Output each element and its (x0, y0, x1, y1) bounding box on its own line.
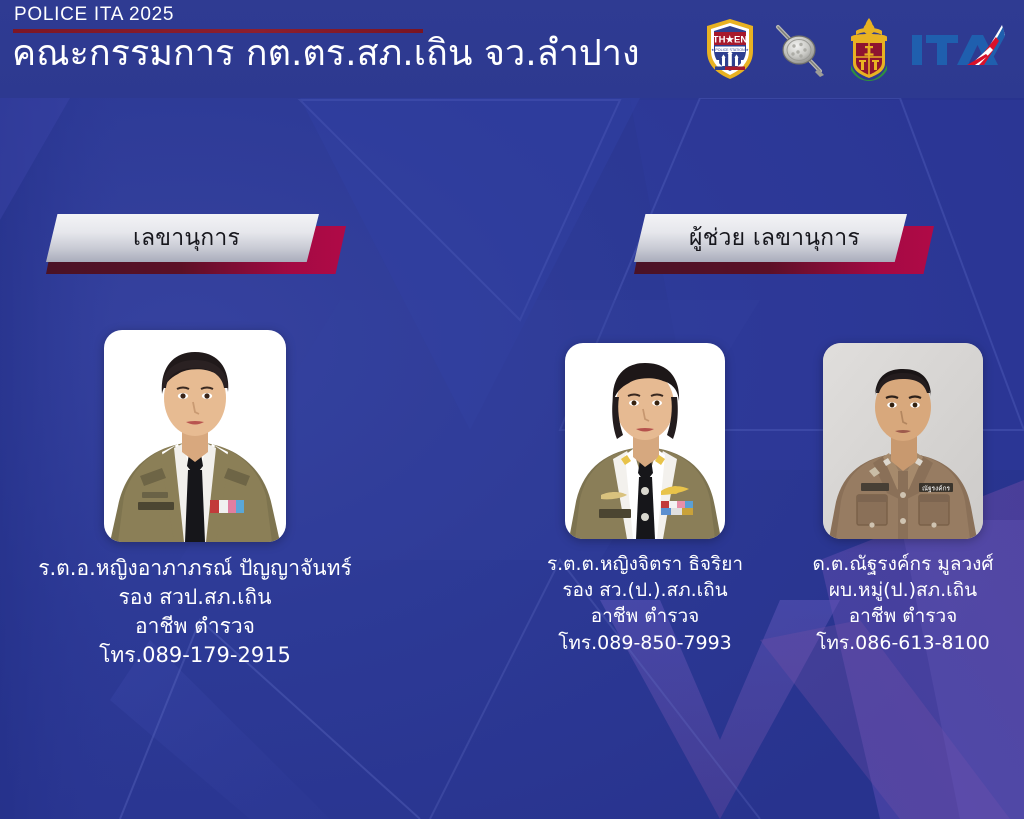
silver-shield-emblem-icon (770, 19, 828, 79)
caption-assistant-1: ร.ต.ต.หญิงจิตรา ธิจริยา รอง สว.(ป.).สภ.เ… (500, 551, 790, 656)
caption-assistant-2: ด.ต.ณัฐรงค์กร มูลวงศ์ ผบ.หมู่(ป.)สภ.เถิน… (758, 551, 1024, 656)
person-card-assistant-2: ณัฐรงค์กร ด.ต.ณัฐรงค์กร มูลวงศ์ ผบ.หมู่(… (758, 343, 1024, 656)
person-position: รอง สว.(ป.).สภ.เถิน (500, 577, 790, 603)
header-kicker: POLICE ITA 2025 (14, 4, 174, 26)
section-banner-assistant-secretary: ผู้ช่วย เลขานุการ (634, 214, 934, 274)
person-position: ผบ.หมู่(ป.)สภ.เถิน (758, 577, 1024, 603)
section-banner-secretary: เลขานุการ (46, 214, 346, 274)
portrait-photo-secretary (104, 330, 286, 542)
header-logo-group: TH★EN ★ POLICE STATION ★ (704, 16, 1008, 82)
thoen-police-station-badge-icon: TH★EN ★ POLICE STATION ★ (704, 18, 756, 80)
person-phone: โทร.089-850-7993 (500, 630, 790, 656)
banner-plate: เลขานุการ (46, 214, 319, 262)
ita-logo-icon (910, 23, 1008, 75)
svg-text:ณัฐรงค์กร: ณัฐรงค์กร (922, 484, 951, 492)
portrait-photo-assistant-2: ณัฐรงค์กร (823, 343, 983, 539)
caption-secretary: ร.ต.อ.หญิงอาภาภรณ์ ปัญญาจันทร์ รอง สวป.ส… (0, 554, 390, 670)
person-occupation: อาชีพ ตำรวจ (0, 612, 390, 641)
person-occupation: อาชีพ ตำรวจ (758, 603, 1024, 629)
page-title: คณะกรรมการ กต.ตร.สภ.เถิน จว.ลำปาง (12, 31, 640, 76)
banner-label-assistant-secretary: ผู้ช่วย เลขานุการ (689, 220, 860, 256)
person-occupation: อาชีพ ตำรวจ (500, 603, 790, 629)
page-header: POLICE ITA 2025 คณะกรรมการ กต.ตร.สภ.เถิน… (0, 0, 1024, 98)
person-name: ด.ต.ณัฐรงค์กร มูลวงศ์ (758, 551, 1024, 577)
person-position: รอง สวป.สภ.เถิน (0, 583, 390, 612)
royal-thai-police-emblem-icon (842, 17, 896, 81)
banner-label-secretary: เลขานุการ (133, 220, 240, 256)
portrait-photo-assistant-1 (565, 343, 725, 539)
person-name: ร.ต.อ.หญิงอาภาภรณ์ ปัญญาจันทร์ (0, 554, 390, 583)
person-card-secretary: ร.ต.อ.หญิงอาภาภรณ์ ปัญญาจันทร์ รอง สวป.ส… (0, 330, 390, 670)
person-phone: โทร.086-613-8100 (758, 630, 1024, 656)
banner-plate: ผู้ช่วย เลขานุการ (634, 214, 907, 262)
svg-text:TH★EN: TH★EN (713, 35, 748, 46)
person-card-assistant-1: ร.ต.ต.หญิงจิตรา ธิจริยา รอง สว.(ป.).สภ.เ… (500, 343, 790, 656)
person-name: ร.ต.ต.หญิงจิตรา ธิจริยา (500, 551, 790, 577)
person-phone: โทร.089-179-2915 (0, 641, 390, 670)
